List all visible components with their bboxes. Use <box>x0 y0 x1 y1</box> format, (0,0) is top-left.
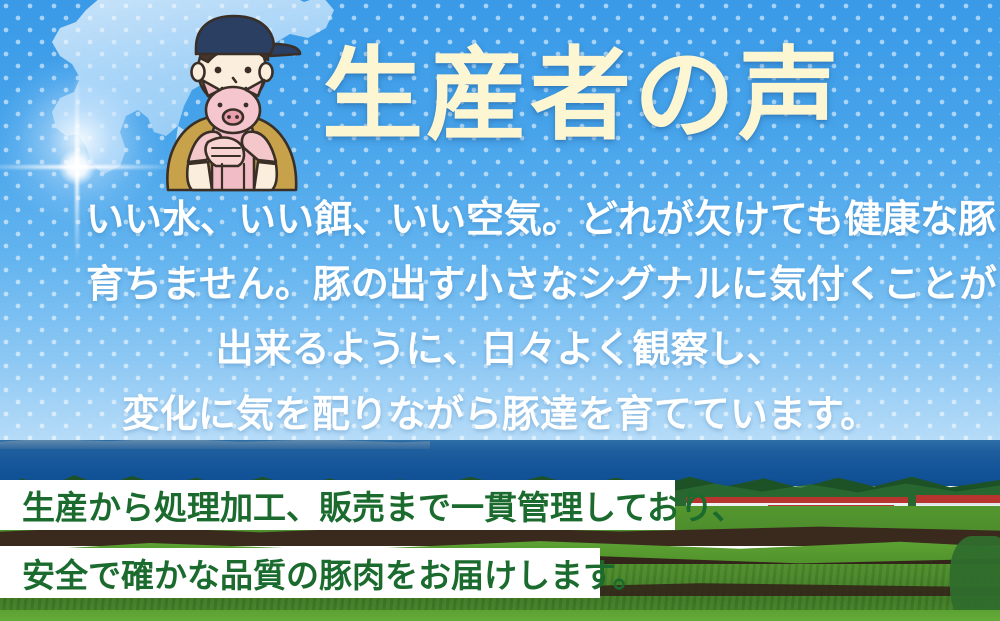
testimonial-paragraph: いい水、いい餌、いい空気。どれが欠けても健康な豚は 育ちません。豚の出す小さなシ… <box>0 188 1000 448</box>
farmer-holding-piglet-illustration <box>150 14 312 192</box>
roadside-bush <box>950 536 1000 621</box>
testimonial-line-1: いい水、いい餌、いい空気。どれが欠けても健康な豚は <box>0 188 1000 253</box>
sparkle-core <box>58 148 96 186</box>
banner-line-1-text: 生産から処理加工、販売まで一貫管理しており、 <box>22 481 745 529</box>
distant-mountains <box>0 440 430 449</box>
foreground-grass <box>0 610 1000 621</box>
testimonial-line-2: 育ちません。豚の出す小さなシグナルに気付くことが <box>0 253 1000 318</box>
testimonial-line-4: 変化に気を配りながら豚達を育てています。 <box>0 383 1000 448</box>
banner-line-2-text: 安全で確かな品質の豚肉をお届けします。 <box>22 549 646 597</box>
banner-line-2: 安全で確かな品質の豚肉をお届けします。 <box>0 548 600 598</box>
promo-banner-image: 生産者の声 いい水、いい餌、いい空気。どれが欠けても健康な豚は 育ちません。豚の… <box>0 0 1000 621</box>
page-title: 生産者の声 <box>322 38 862 158</box>
banner-line-1: 生産から処理加工、販売まで一貫管理しており、 <box>0 480 675 530</box>
testimonial-line-3: 出来るように、日々よく観察し、 <box>0 318 1000 383</box>
